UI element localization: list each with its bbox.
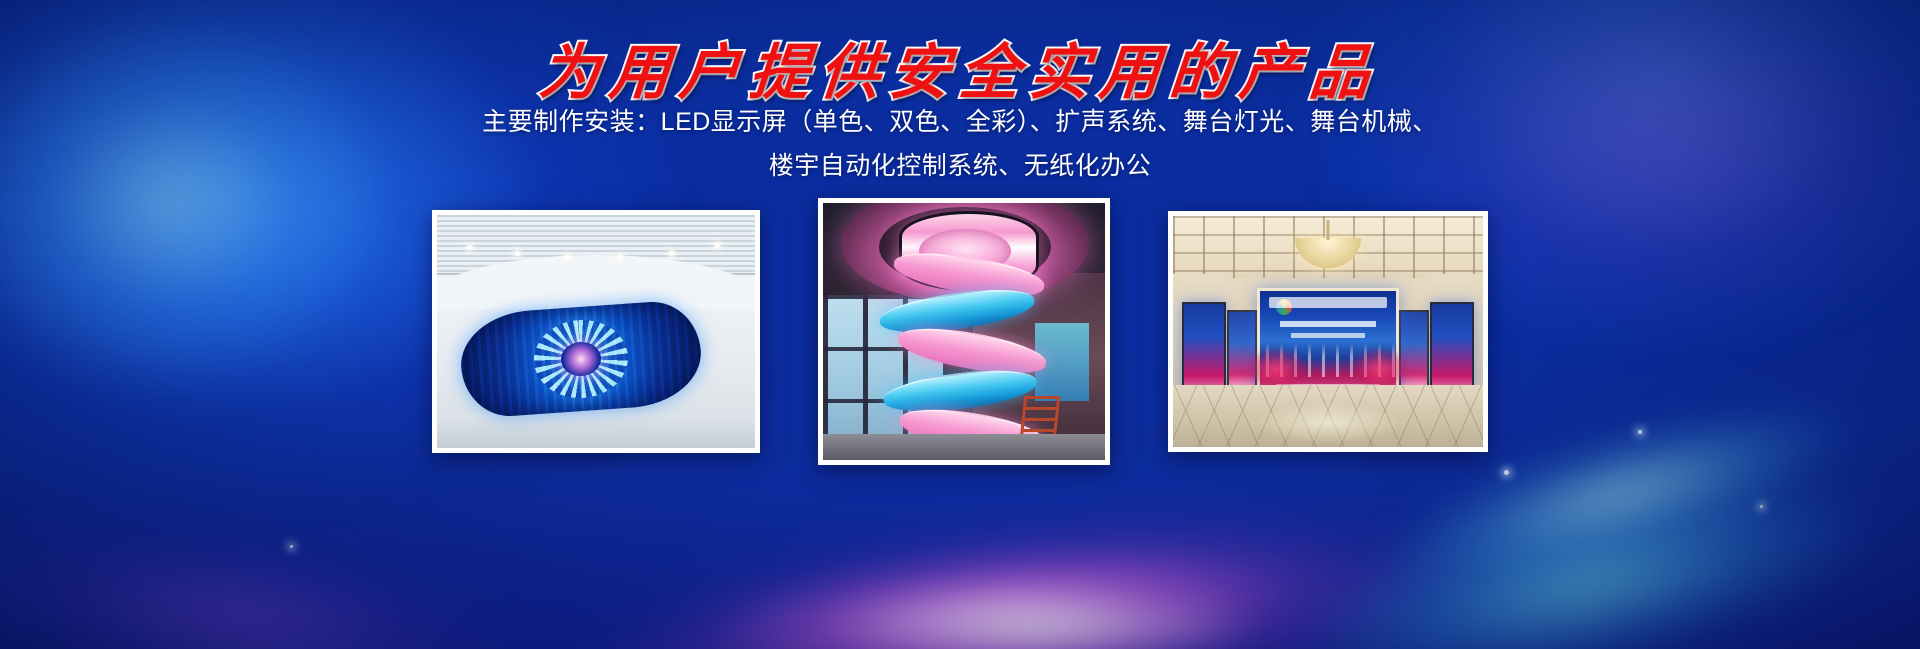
led-pixel-grid (458, 298, 705, 418)
ceiling-light-icon (565, 255, 570, 260)
promo-banner: 为用户提供安全实用的产品 主要制作安装：LED显示屏（单色、双色、全彩）、扩声系… (0, 0, 1920, 649)
subtitle-block: 主要制作安装：LED显示屏（单色、双色、全彩）、扩声系统、舞台灯光、舞台机械、 … (0, 100, 1920, 188)
photo-inner (437, 215, 755, 448)
stage-light-swirl-left (1247, 349, 1305, 389)
floor-reflection-glow (1253, 403, 1403, 443)
screen-text-line (1280, 321, 1376, 327)
photo-scene-conference-hall (1173, 216, 1483, 447)
page-title: 为用户提供安全实用的产品 (0, 24, 1920, 111)
gallery-photo-eye-shaped-led-wall[interactable] (432, 210, 760, 453)
ceiling-light-icon (715, 243, 720, 248)
photo-inner (1173, 216, 1483, 447)
ceiling-light-icon (515, 251, 520, 256)
gallery-photo-conference-hall-led-screen[interactable] (1168, 211, 1488, 452)
side-led-panel-right (1430, 302, 1474, 398)
subtitle-line-2: 楼宇自动化控制系统、无纸化办公 (0, 144, 1920, 188)
photo-inner (823, 203, 1105, 460)
ceiling-light-icon (617, 255, 622, 260)
screen-headline-bar (1269, 297, 1387, 308)
screen-text-line (1291, 333, 1365, 338)
gallery-photo-spiral-led-column[interactable] (818, 198, 1110, 465)
photo-gallery (0, 196, 1920, 466)
eye-shaped-led-screen (458, 298, 705, 418)
spiral-band (881, 363, 1038, 417)
photo-scene-atrium (823, 203, 1105, 460)
subtitle-line-1: 主要制作安装：LED显示屏（单色、双色、全彩）、扩声系统、舞台灯光、舞台机械、 (0, 100, 1920, 144)
lobby-floor (437, 414, 755, 448)
side-led-panel-left (1182, 302, 1226, 398)
photo-scene-lobby (437, 215, 755, 448)
atrium-floor (823, 434, 1105, 460)
ceiling-light-icon (467, 245, 472, 250)
stage-light-swirl-right (1351, 349, 1409, 389)
ceiling-light-icon (669, 251, 674, 256)
